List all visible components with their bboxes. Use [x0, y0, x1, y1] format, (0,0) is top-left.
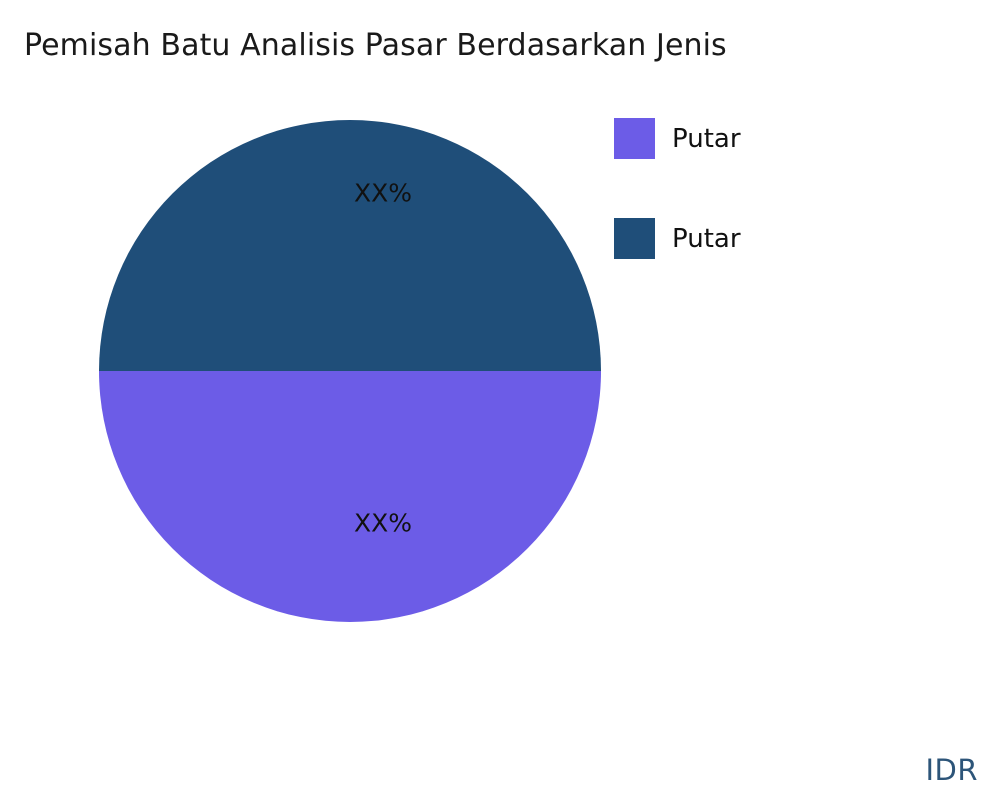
legend-color-swatch-navy: [614, 218, 655, 259]
pie-chart-plot-area: XX% XX%: [99, 120, 601, 622]
pie-slice-putar-purple[interactable]: [99, 371, 601, 622]
watermark-text: IDR: [925, 754, 978, 786]
pie-svg: [99, 120, 601, 622]
legend-color-swatch-purple: [614, 118, 655, 159]
legend-item-putar-2[interactable]: Putar: [614, 218, 741, 259]
legend-item-label: Putar: [672, 224, 741, 254]
chart-title: Pemisah Batu Analisis Pasar Berdasarkan …: [24, 27, 727, 65]
pie-chart-figure: Pemisah Batu Analisis Pasar Berdasarkan …: [0, 0, 1000, 800]
legend-item-putar-1[interactable]: Putar: [614, 118, 741, 159]
legend-item-label: Putar: [672, 124, 741, 154]
pie-slice-putar-navy[interactable]: [99, 120, 601, 371]
